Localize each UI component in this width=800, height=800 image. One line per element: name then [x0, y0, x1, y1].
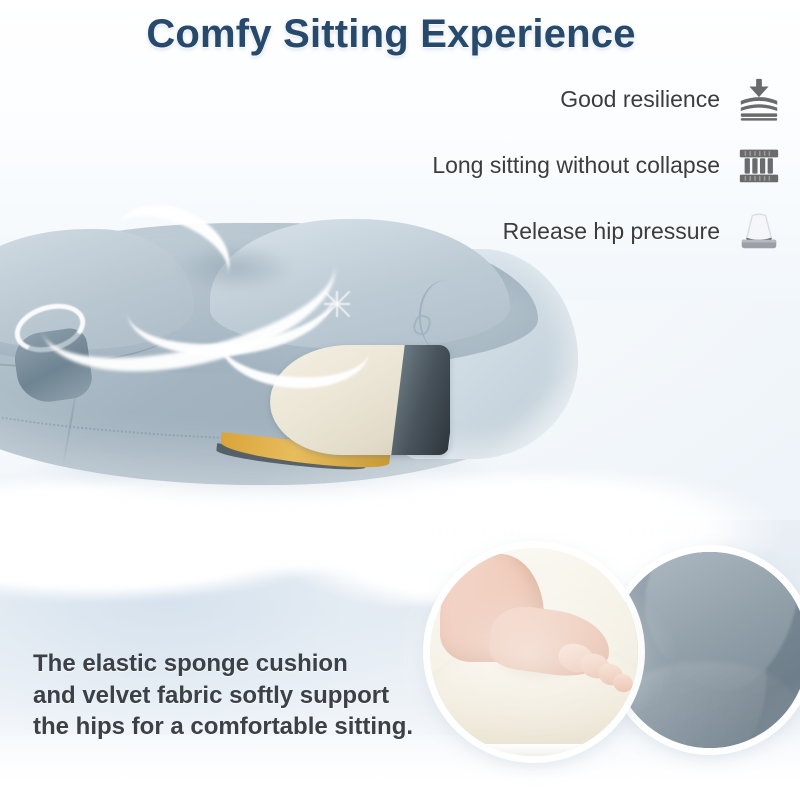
feature-item-no-collapse: Long sitting without collapse — [222, 142, 782, 188]
support-pillars-icon — [736, 142, 782, 188]
cushion-foam-cutaway — [270, 345, 450, 455]
product-infographic: Comfy Sitting Experience Good resilience… — [0, 0, 800, 800]
page-title: Comfy Sitting Experience — [0, 12, 800, 57]
caption-line-2: and velvet fabric softly support — [33, 680, 433, 712]
caption-line-3: the hips for a comfortable sitting. — [33, 711, 433, 743]
feature-item-resilience: Good resilience — [222, 76, 782, 122]
inset-hand-pressing-foam — [430, 548, 638, 756]
inset-velvet-fabric — [612, 552, 800, 748]
feature-label-no-collapse: Long sitting without collapse — [432, 152, 720, 179]
cushion-on-base-icon — [736, 208, 782, 254]
caption-line-1: The elastic sponge cushion — [33, 648, 433, 680]
cushion-photo — [0, 215, 620, 535]
caption-block: The elastic sponge cushion and velvet fa… — [33, 648, 433, 743]
sparkle-icon — [324, 291, 350, 317]
compression-layers-icon — [736, 76, 782, 122]
foam-base — [430, 744, 638, 756]
feature-label-resilience: Good resilience — [560, 86, 720, 113]
fabric-fold-3 — [612, 662, 800, 748]
cushion-center-dip — [160, 241, 310, 301]
